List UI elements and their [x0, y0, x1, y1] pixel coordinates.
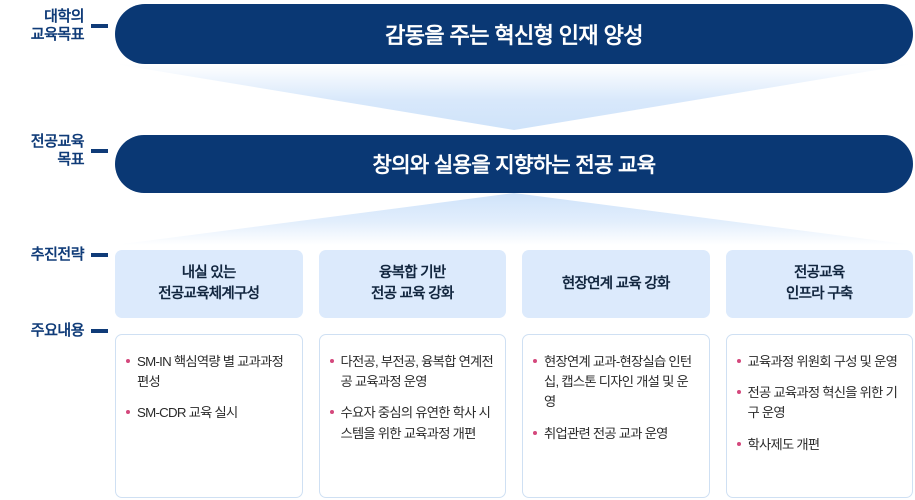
list-item: 수요자 중심의 유연한 학사 시스템을 위한 교육과정 개편: [330, 403, 495, 443]
strategy-card[interactable]: 융복합 기반 전공 교육 강화: [319, 250, 507, 318]
strategy-card-text: 융복합 기반 전공 교육 강화: [371, 263, 454, 304]
dash-icon: [91, 253, 108, 257]
bullet-icon: [126, 359, 130, 363]
list-item-text: 현장연계 교과-현장실습 인턴십, 캡스톤 디자인 개설 및 운영: [544, 354, 691, 409]
bullet-icon: [126, 410, 130, 414]
list-item-text: 수요자 중심의 유연한 학사 시스템을 위한 교육과정 개편: [341, 405, 491, 440]
rail-label-strategy-text: 추진전략: [31, 246, 84, 264]
content-list: 교육과정 위원회 구성 및 운영 전공 교육과정 혁신을 위한 기구 운영 학사…: [737, 352, 902, 455]
rail-label-university-goal-line1: 대학의: [44, 8, 84, 25]
banner-university-goal-text: 감동을 주는 혁신형 인재 양성: [385, 18, 643, 50]
content-row: SM-IN 핵심역량 별 교과과정 편성 SM-CDR 교육 실시 다전공, 부…: [115, 334, 913, 498]
rail-label-content: 주요내용: [0, 322, 108, 340]
rail-label-major-goal-line2: 목표: [57, 151, 84, 168]
bullet-icon: [330, 359, 334, 363]
list-item-text: 다전공, 부전공, 융복합 연계전공 교육과정 운영: [341, 354, 494, 389]
content-card: 다전공, 부전공, 융복합 연계전공 교육과정 운영 수요자 중심의 유연한 학…: [319, 334, 507, 498]
banner-major-goal-text: 창의와 실용을 지향하는 전공 교육: [372, 149, 655, 179]
strategy-card-line2: 전공 교육 강화: [371, 286, 454, 302]
list-item: 학사제도 개편: [737, 435, 902, 455]
list-item: 다전공, 부전공, 융복합 연계전공 교육과정 운영: [330, 352, 495, 392]
content-list: 현장연계 교과-현장실습 인턴십, 캡스톤 디자인 개설 및 운영 취업관련 전…: [533, 352, 698, 444]
rail-label-strategy: 추진전략: [0, 246, 108, 264]
fan-out-icon: [115, 193, 913, 245]
strategy-card-line1: 현장연계 교육 강화: [562, 276, 670, 292]
list-item-text: 교육과정 위원회 구성 및 운영: [748, 354, 898, 369]
content-list: 다전공, 부전공, 융복합 연계전공 교육과정 운영 수요자 중심의 유연한 학…: [330, 352, 495, 444]
content-card: 교육과정 위원회 구성 및 운영 전공 교육과정 혁신을 위한 기구 운영 학사…: [726, 334, 914, 498]
dash-icon: [91, 329, 108, 333]
funnel-down-icon: [115, 64, 913, 130]
strategy-card-text: 현장연계 교육 강화: [562, 274, 670, 295]
list-item-text: 취업관련 전공 교과 운영: [544, 426, 668, 441]
rail-label-major-goal-text: 전공교육 목표: [31, 133, 84, 168]
dash-icon: [91, 24, 108, 28]
list-item: 전공 교육과정 혁신을 위한 기구 운영: [737, 383, 902, 423]
strategy-card-text: 전공교육 인프라 구축: [786, 263, 853, 304]
strategy-card-text: 내실 있는 전공교육체계구성: [158, 263, 259, 304]
bullet-icon: [533, 431, 537, 435]
strategy-card-line2: 전공교육체계구성: [158, 286, 259, 302]
strategy-row: 내실 있는 전공교육체계구성 융복합 기반 전공 교육 강화 현장연계 교육 강…: [115, 250, 913, 318]
list-item-text: SM-CDR 교육 실시: [137, 405, 238, 420]
rail-label-university-goal-text: 대학의 교육목표: [31, 8, 84, 43]
education-goals-diagram: 대학의 교육목표 전공교육 목표 추진전략 주요내용 감동을 주는 혁신형 인재…: [0, 0, 915, 500]
strategy-card-line1: 내실 있는: [182, 265, 236, 281]
rail-label-university-goal: 대학의 교육목표: [0, 8, 108, 43]
rail-label-content-text: 주요내용: [31, 322, 84, 340]
bullet-icon: [737, 390, 741, 394]
rail-label-major-goal-line1: 전공교육: [31, 133, 84, 150]
rail-label-major-goal: 전공교육 목표: [0, 133, 108, 168]
bullet-icon: [737, 442, 741, 446]
list-item-text: 전공 교육과정 혁신을 위한 기구 운영: [748, 385, 898, 420]
content-card: SM-IN 핵심역량 별 교과과정 편성 SM-CDR 교육 실시: [115, 334, 303, 498]
list-item: 취업관련 전공 교과 운영: [533, 424, 698, 444]
content-card: 현장연계 교과-현장실습 인턴십, 캡스톤 디자인 개설 및 운영 취업관련 전…: [522, 334, 710, 498]
content-list: SM-IN 핵심역량 별 교과과정 편성 SM-CDR 교육 실시: [126, 352, 291, 424]
bullet-icon: [737, 359, 741, 363]
list-item-text: SM-IN 핵심역량 별 교과과정 편성: [137, 354, 283, 389]
list-item: SM-CDR 교육 실시: [126, 403, 291, 423]
list-item: 현장연계 교과-현장실습 인턴십, 캡스톤 디자인 개설 및 운영: [533, 352, 698, 413]
strategy-card-line2: 인프라 구축: [786, 286, 853, 302]
dash-icon: [91, 149, 108, 153]
list-item: SM-IN 핵심역량 별 교과과정 편성: [126, 352, 291, 392]
banner-university-goal: 감동을 주는 혁신형 인재 양성: [115, 4, 913, 64]
list-item: 교육과정 위원회 구성 및 운영: [737, 352, 902, 372]
bullet-icon: [533, 359, 537, 363]
rail-label-university-goal-line2: 교육목표: [31, 26, 84, 43]
strategy-card-line1: 전공교육: [794, 265, 845, 281]
strategy-card[interactable]: 전공교육 인프라 구축: [726, 250, 914, 318]
banner-major-goal: 창의와 실용을 지향하는 전공 교육: [115, 135, 913, 193]
list-item-text: 학사제도 개편: [748, 437, 820, 452]
bullet-icon: [330, 410, 334, 414]
strategy-card[interactable]: 현장연계 교육 강화: [522, 250, 710, 318]
strategy-card-line1: 융복합 기반: [379, 265, 446, 281]
strategy-card[interactable]: 내실 있는 전공교육체계구성: [115, 250, 303, 318]
